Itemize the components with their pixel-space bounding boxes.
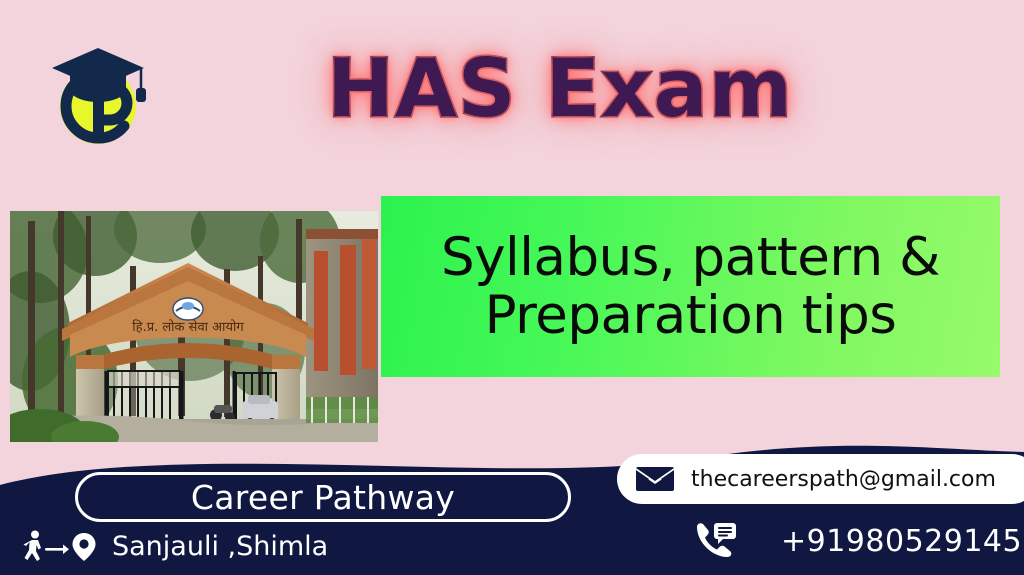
location-text: Sanjauli ,Shimla bbox=[112, 531, 328, 562]
brand-pill[interactable]: Career Pathway bbox=[75, 472, 571, 522]
logo-cap-top bbox=[52, 48, 144, 88]
svg-text:हि.प्र. लोक सेवा आयोग: हि.प्र. लोक सेवा आयोग bbox=[132, 319, 244, 335]
poster-title-text: HAS Exam bbox=[327, 49, 793, 129]
location-icons bbox=[18, 529, 102, 563]
brand-label: Career Pathway bbox=[191, 478, 455, 517]
subtitle-line-2: Preparation tips bbox=[485, 287, 897, 344]
poster-title: HAS Exam bbox=[300, 34, 820, 144]
subtitle-banner: Syllabus, pattern & Preparation tips bbox=[381, 196, 1000, 377]
email-text: thecareerspath@gmail.com bbox=[691, 467, 996, 492]
phone-message-icon bbox=[693, 521, 739, 561]
walking-person-icon bbox=[24, 531, 42, 562]
phone-row: +919805291450 bbox=[693, 518, 1024, 564]
arrow-right-icon bbox=[45, 545, 69, 555]
logo-tassel bbox=[136, 88, 146, 102]
hppsc-gate-photo: हि.प्र. लोक सेवा आयोग bbox=[10, 211, 378, 442]
email-pill[interactable]: thecareerspath@gmail.com bbox=[617, 454, 1024, 504]
poster-canvas: HAS Exam bbox=[0, 0, 1024, 575]
location-pin-icon bbox=[73, 533, 96, 561]
subtitle-line-1: Syllabus, pattern & bbox=[441, 229, 940, 286]
green-fence bbox=[306, 397, 378, 423]
stone-building bbox=[306, 229, 378, 409]
location-row: Sanjauli ,Shimla bbox=[18, 525, 328, 567]
career-pathway-logo bbox=[44, 36, 152, 148]
phone-text: +919805291450 bbox=[781, 524, 1024, 559]
envelope-icon bbox=[635, 465, 675, 493]
